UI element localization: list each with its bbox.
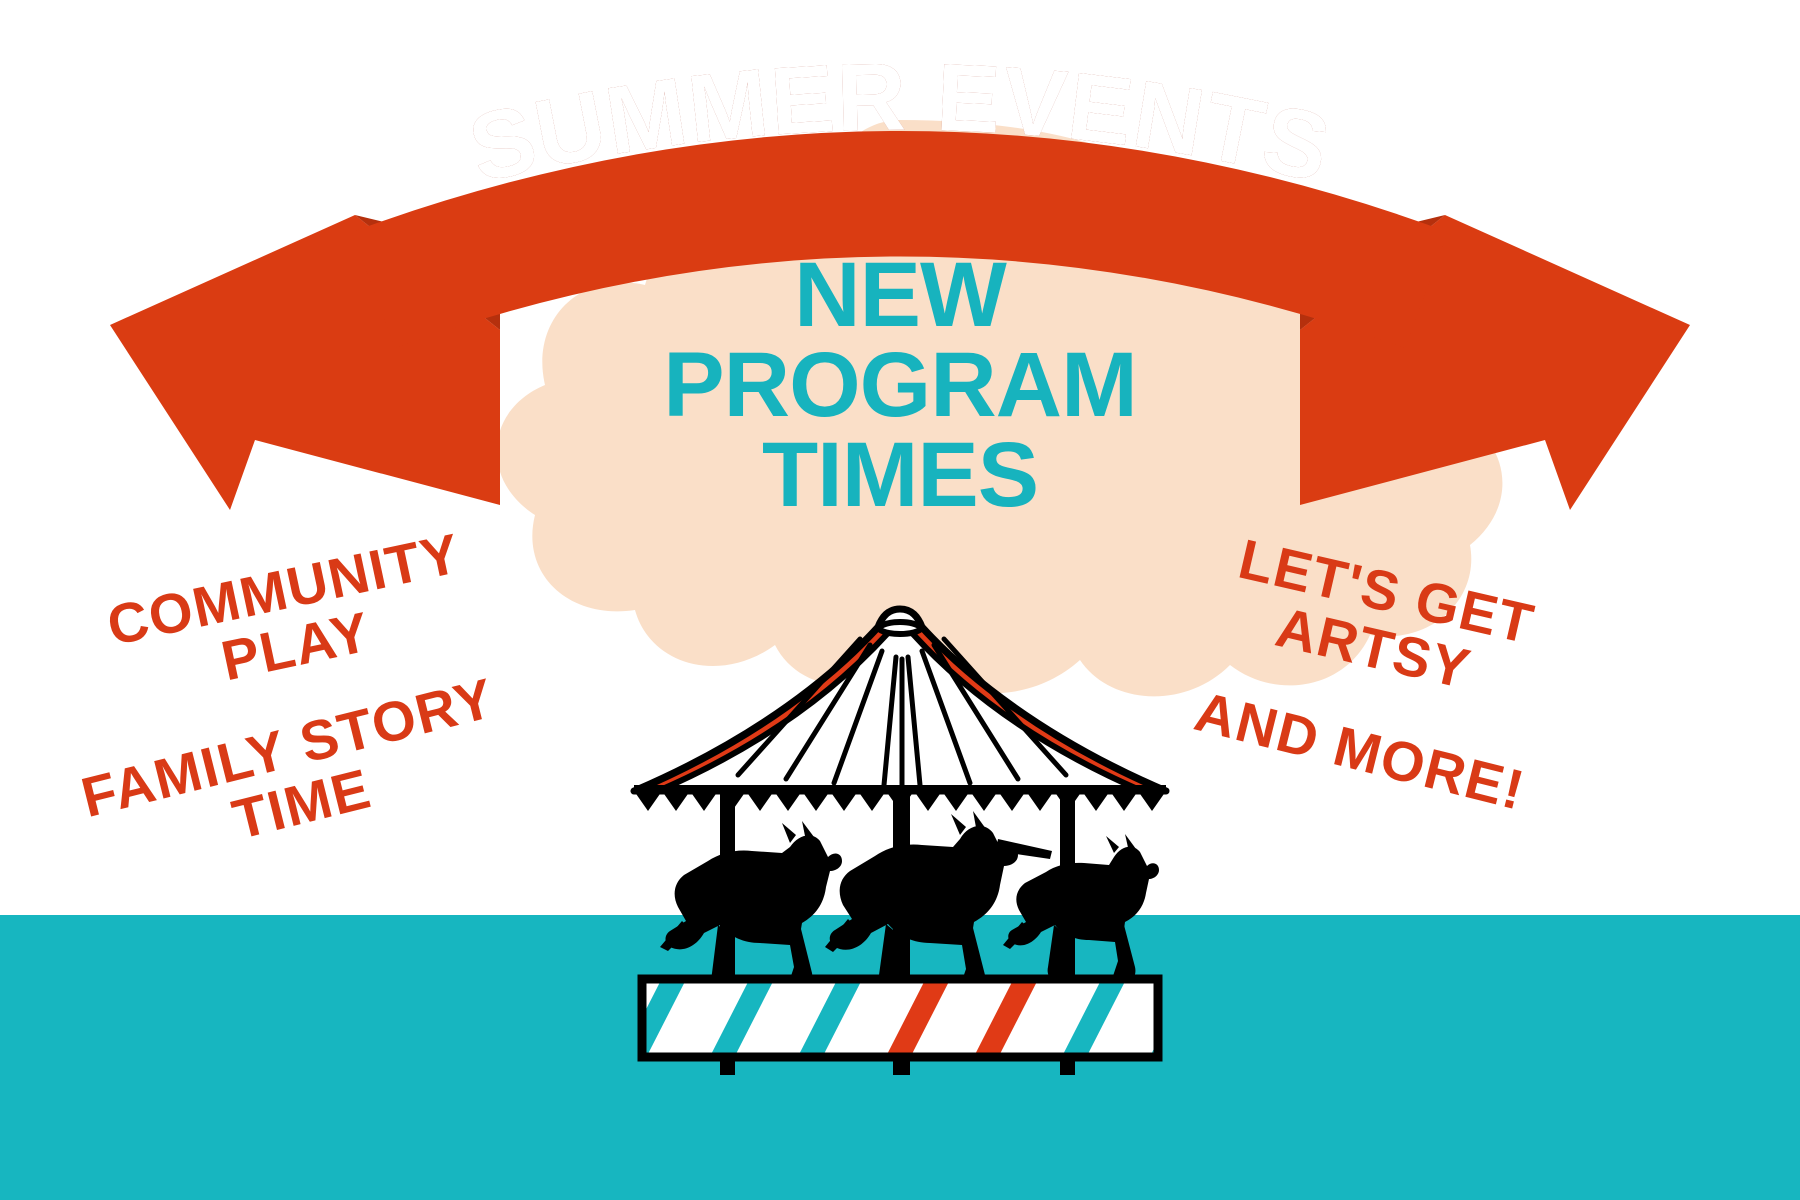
carousel-canopy (634, 609, 1166, 791)
poster-canvas: SUMMER EVENTS SUMMER EVENTS NEW PROGRAM … (0, 0, 1800, 1200)
carousel-horse-left (660, 821, 842, 995)
headline: NEW PROGRAM TIMES (530, 250, 1270, 520)
headline-line-1: NEW (530, 250, 1270, 340)
headline-line-2: PROGRAM (530, 340, 1270, 430)
headline-line-3: TIMES (530, 430, 1270, 520)
carousel-base-platform (630, 971, 1180, 1065)
carousel-illustration (620, 595, 1180, 1075)
carousel-horse-right (1003, 834, 1159, 985)
